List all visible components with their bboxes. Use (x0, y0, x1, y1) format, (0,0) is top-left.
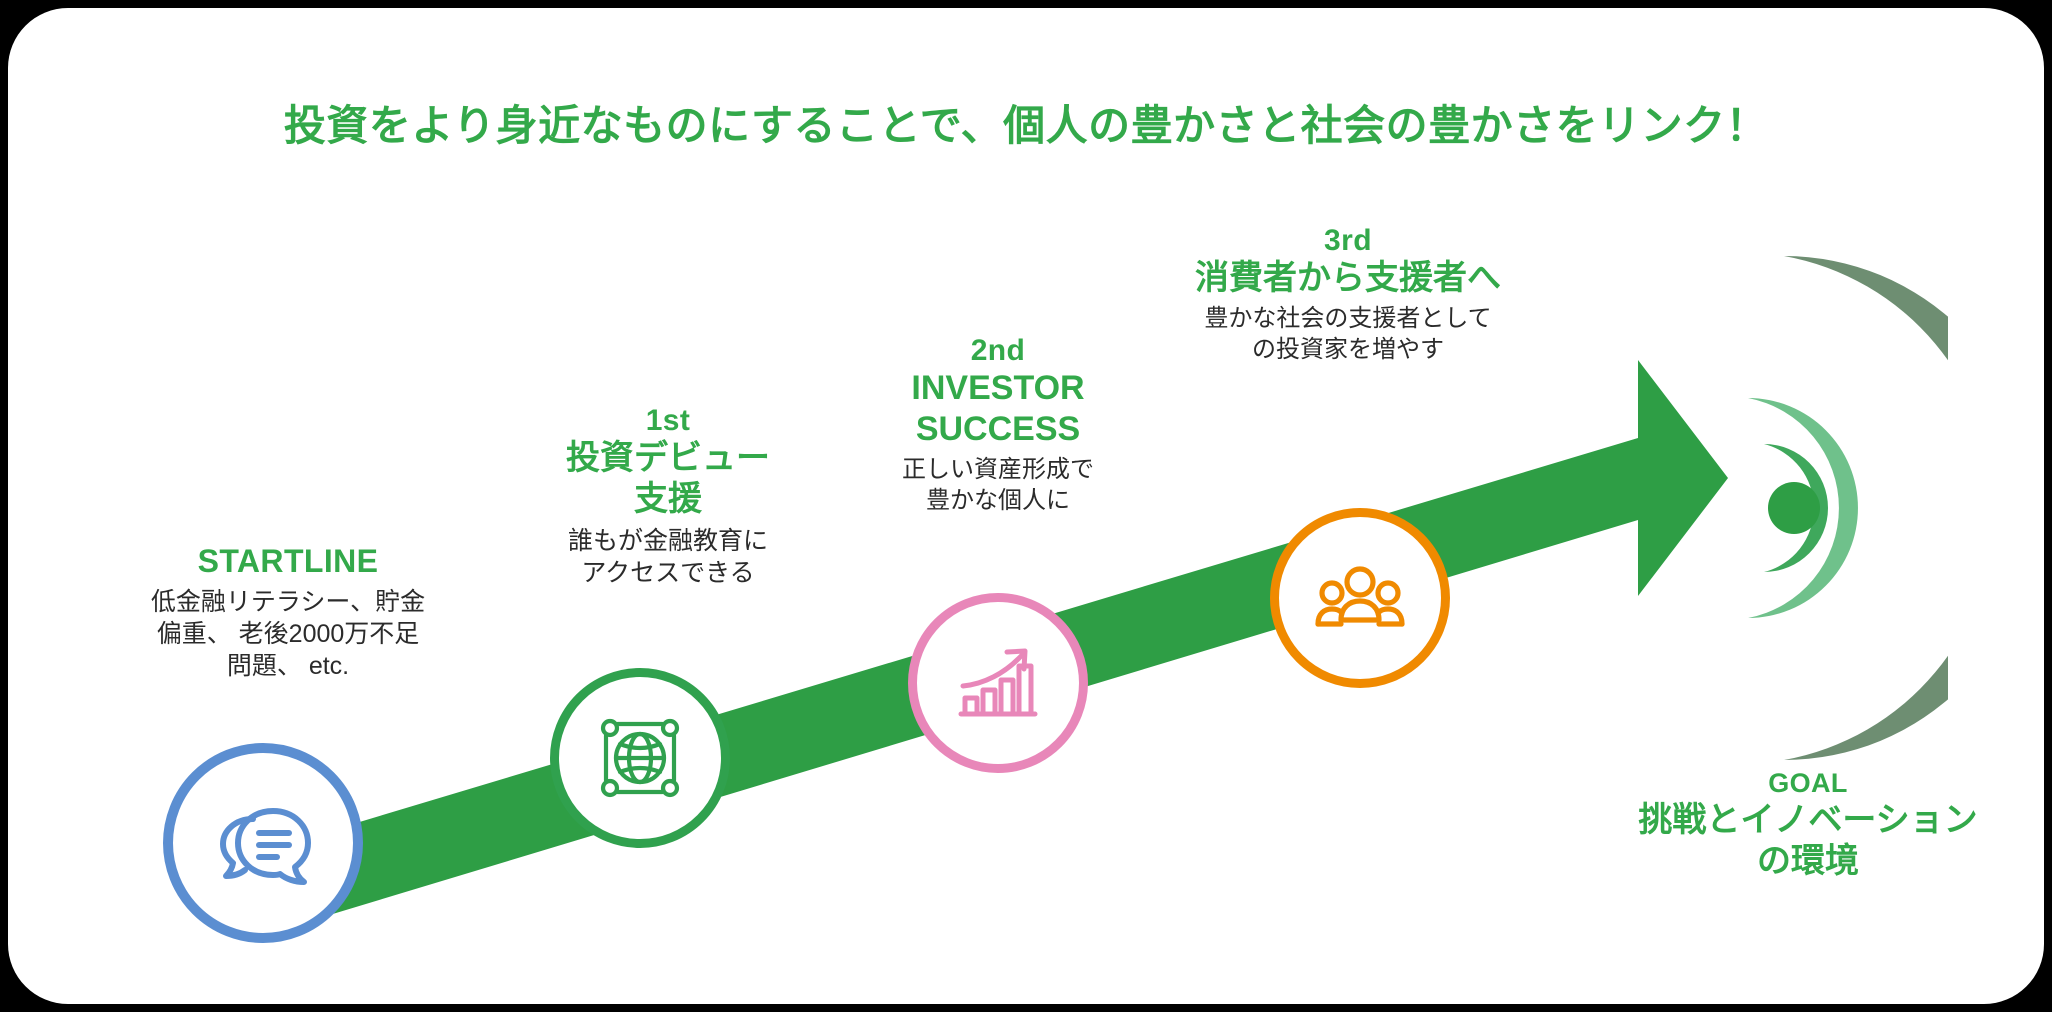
startline-text-block: STARTLINE 低金融リテラシー、貯金 偏重、 老後2000万不足 問題、 … (108, 543, 468, 682)
step-3-text-block: 3rd 消費者から支援者へ 豊かな社会の支援者として の投資家を増やす (1148, 223, 1548, 366)
step-3-headline: 消費者から支援者へ (1148, 258, 1548, 299)
step-3-desc-line-1: 豊かな社会の支援者として (1148, 303, 1548, 334)
startline-node[interactable] (163, 743, 363, 943)
goal-headline-line-2: の環境 (1598, 841, 2018, 882)
step-1-node[interactable] (550, 668, 730, 848)
step-1-desc-line-1: 誰もが金融教育に (508, 525, 828, 557)
bullseye-target-icon (1588, 248, 1948, 768)
step-3-desc-line-2: の投資家を増やす (1148, 334, 1548, 365)
step-1-eyebrow: 1st (508, 403, 828, 438)
step-3-headline-line-1: 消費者から支援者へ (1148, 258, 1548, 299)
goal-headline: 挑戦とイノベーション の環境 (1598, 800, 2018, 882)
step-1-headline: 投資デビュー 支援 (508, 438, 828, 520)
startline-description: 低金融リテラシー、貯金 偏重、 老後2000万不足 問題、 etc. (108, 586, 468, 682)
startline-desc-line-3: 問題、 etc. (108, 650, 468, 682)
step-1-desc-line-2: アクセスできる (508, 557, 828, 589)
step-2-node[interactable] (908, 593, 1088, 773)
step-1-description: 誰もが金融教育に アクセスできる (508, 525, 828, 589)
step-2-desc-line-2: 豊かな個人に (853, 485, 1143, 516)
step-1-text-block: 1st 投資デビュー 支援 誰もが金融教育に アクセスできる (508, 403, 828, 589)
step-3-eyebrow: 3rd (1148, 223, 1548, 258)
startline-desc-line-2: 偏重、 老後2000万不足 (108, 618, 468, 650)
startline-desc-line-1: 低金融リテラシー、貯金 (108, 586, 468, 618)
infographic-card: 投資をより身近なものにすることで、個人の豊かさと社会の豊かさをリンク！ (8, 8, 2044, 1004)
goal-headline-line-1: 挑戦とイノベーション (1598, 800, 2018, 841)
startline-eyebrow: STARTLINE (108, 543, 468, 581)
step-3-node[interactable] (1270, 508, 1450, 688)
globe-network-icon (592, 710, 688, 806)
goal-text-block: GOAL 挑戦とイノベーション の環境 (1598, 768, 2018, 881)
growth-bar-chart-icon (949, 634, 1047, 732)
step-2-description: 正しい資産形成で 豊かな個人に (853, 454, 1143, 516)
screenshot-stage: 投資をより身近なものにすることで、個人の豊かさと社会の豊かさをリンク！ (0, 0, 2052, 1012)
step-2-eyebrow: 2nd (853, 333, 1143, 368)
step-2-text-block: 2nd INVESTOR SUCCESS 正しい資産形成で 豊かな個人に (853, 333, 1143, 516)
step-1-headline-line-2: 支援 (508, 479, 828, 520)
step-2-headline: INVESTOR SUCCESS (853, 368, 1143, 450)
people-group-icon (1310, 548, 1410, 648)
step-2-headline-line-1: INVESTOR (853, 368, 1143, 409)
step-2-headline-line-2: SUCCESS (853, 409, 1143, 450)
chat-bubbles-icon (209, 789, 317, 897)
step-1-headline-line-1: 投資デビュー (508, 438, 828, 479)
goal-eyebrow: GOAL (1598, 768, 2018, 800)
step-2-desc-line-1: 正しい資産形成で (853, 454, 1143, 485)
step-3-description: 豊かな社会の支援者として の投資家を増やす (1148, 303, 1548, 365)
